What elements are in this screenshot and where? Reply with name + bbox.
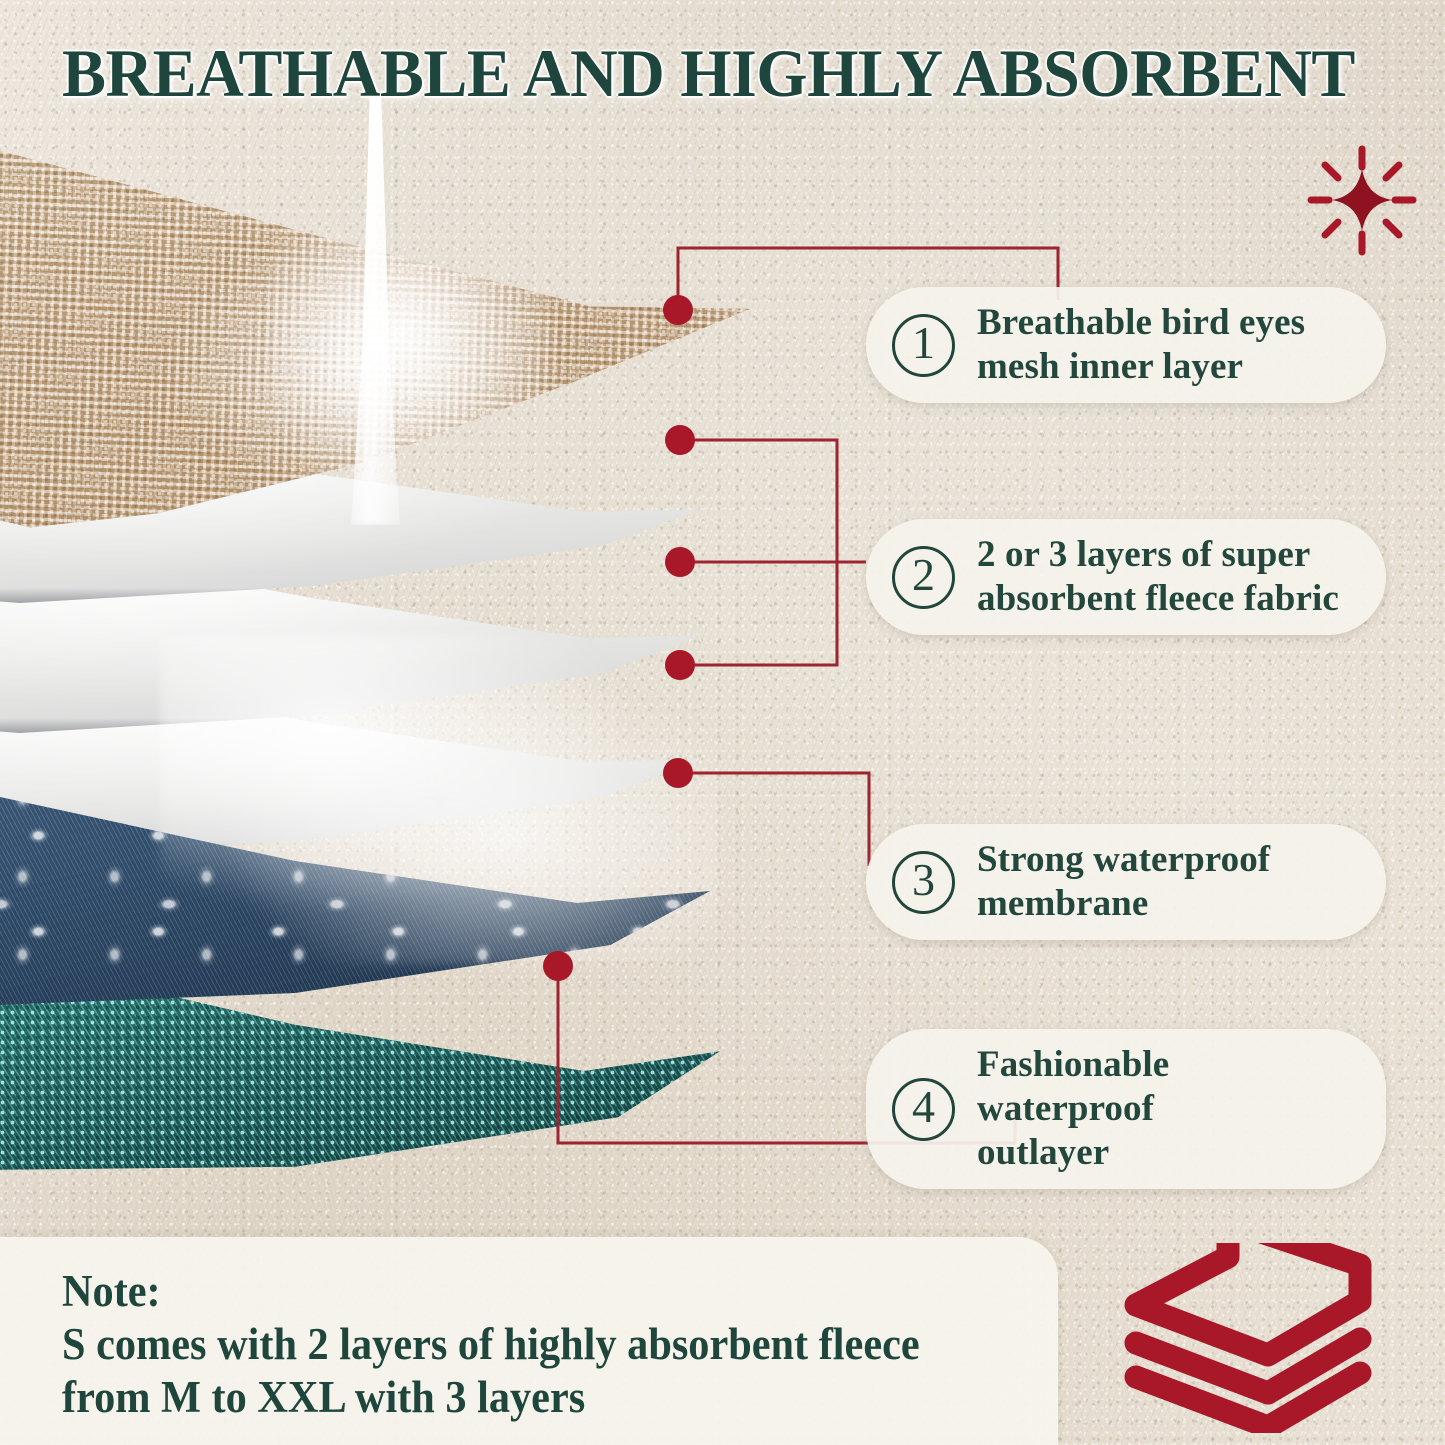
callout-number-4: 4 bbox=[892, 1078, 955, 1141]
note-line-1: S comes with 2 layers of highly absorben… bbox=[62, 1318, 998, 1371]
callout-text-4: Fashionable waterproof outlayer bbox=[977, 1043, 1346, 1175]
connector-dot-3 bbox=[663, 758, 693, 788]
callout-number-3: 3 bbox=[892, 851, 955, 914]
callout-waterproof-outlayer[interactable]: 4 Fashionable waterproof outlayer bbox=[866, 1029, 1386, 1189]
connector-line-3 bbox=[678, 773, 869, 866]
connector-dot-2c bbox=[665, 650, 695, 680]
connector-dot-1 bbox=[663, 295, 693, 325]
callout-text-3: Strong waterproof membrane bbox=[977, 838, 1270, 926]
note-panel: Note: S comes with 2 layers of highly ab… bbox=[0, 1237, 1058, 1445]
layers-stack-icon bbox=[1118, 1243, 1418, 1433]
callout-number-1: 1 bbox=[892, 314, 955, 377]
connector-dot-2b bbox=[665, 547, 695, 577]
callout-text-1: Breathable bird eyes mesh inner layer bbox=[977, 301, 1305, 389]
note-line-2: from M to XXL with 3 layers bbox=[62, 1371, 998, 1424]
callout-text-2: 2 or 3 layers of super absorbent fleece … bbox=[977, 533, 1339, 621]
callout-absorbent-fleece[interactable]: 2 2 or 3 layers of super absorbent fleec… bbox=[866, 519, 1386, 635]
callout-number-2: 2 bbox=[892, 546, 955, 609]
callout-connectors bbox=[0, 0, 1445, 1445]
note-label: Note: bbox=[62, 1265, 998, 1318]
connector-dot-4 bbox=[543, 951, 573, 981]
connector-line-2 bbox=[680, 440, 837, 665]
connector-dot-2a bbox=[665, 425, 695, 455]
callout-waterproof-membrane[interactable]: 3 Strong waterproof membrane bbox=[866, 824, 1386, 940]
callout-breathable-mesh[interactable]: 1 Breathable bird eyes mesh inner layer bbox=[866, 287, 1386, 403]
